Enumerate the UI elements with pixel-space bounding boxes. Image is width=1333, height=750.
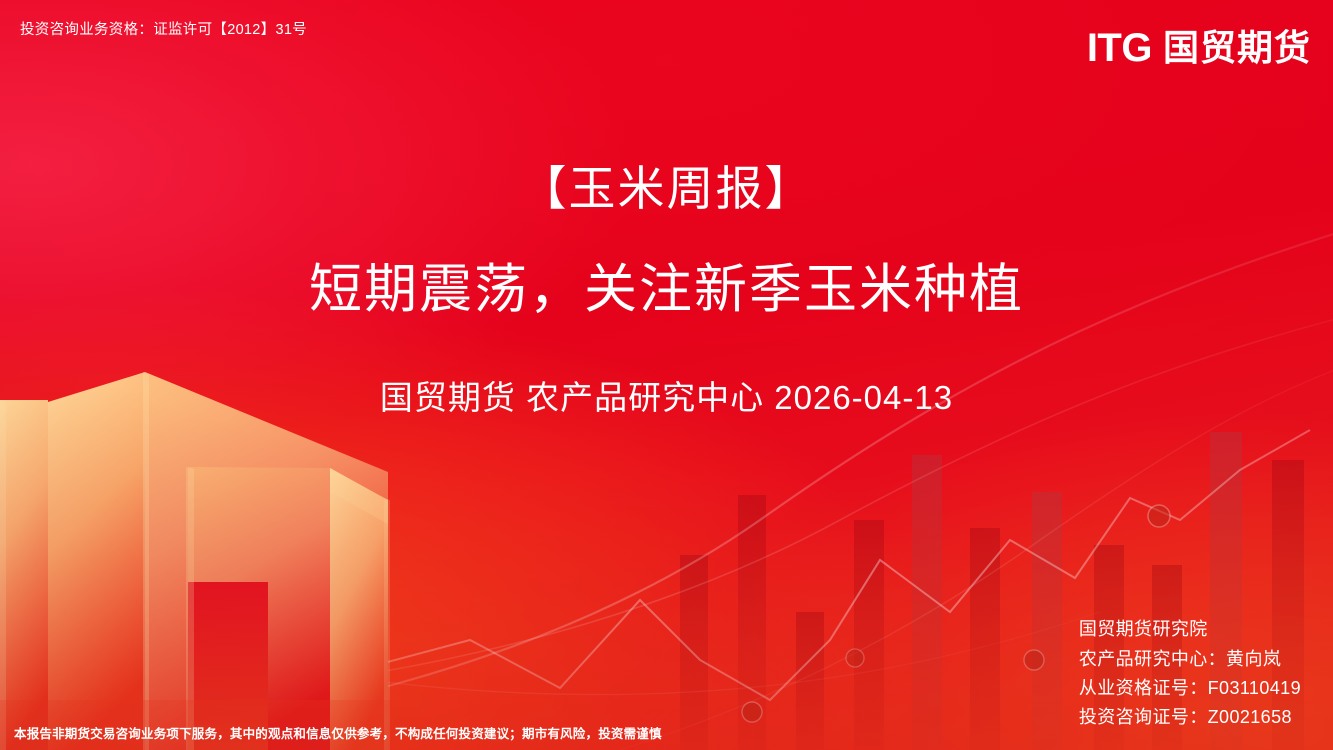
report-cover-slide: 投资咨询业务资格：证监许可【2012】31号 ITG 国贸期货 【玉米周报】 短… <box>0 0 1333 750</box>
logo-latin-text: ITG <box>1087 28 1152 68</box>
disclaimer-text: 本报告非期货交易咨询业务项下服务，其中的观点和信息仅供参考，不构成任何投资建议；… <box>14 723 662 742</box>
author-consulting-id: 投资咨询证号：Z0021658 <box>1079 703 1301 732</box>
title-block: 【玉米周报】 短期震荡，关注新季玉米种植 国贸期货 农产品研究中心 2026-0… <box>0 160 1333 419</box>
author-department: 农产品研究中心：黄向岚 <box>1079 645 1301 674</box>
author-institute: 国贸期货研究院 <box>1079 615 1301 644</box>
page-subtitle: 短期震荡，关注新季玉米种植 <box>0 257 1333 323</box>
author-info-block: 国贸期货研究院 农产品研究中心：黄向岚 从业资格证号：F03110419 投资咨… <box>1079 615 1301 732</box>
author-practice-id: 从业资格证号：F03110419 <box>1079 674 1301 703</box>
company-logo: ITG 国贸期货 <box>1087 28 1311 68</box>
page-title: 【玉米周报】 <box>0 160 1333 219</box>
logo-chinese-text: 国贸期货 <box>1163 30 1311 66</box>
byline-text: 国贸期货 农产品研究中心 2026-04-13 <box>0 371 1333 419</box>
qualification-text: 投资咨询业务资格：证监许可【2012】31号 <box>20 18 307 39</box>
